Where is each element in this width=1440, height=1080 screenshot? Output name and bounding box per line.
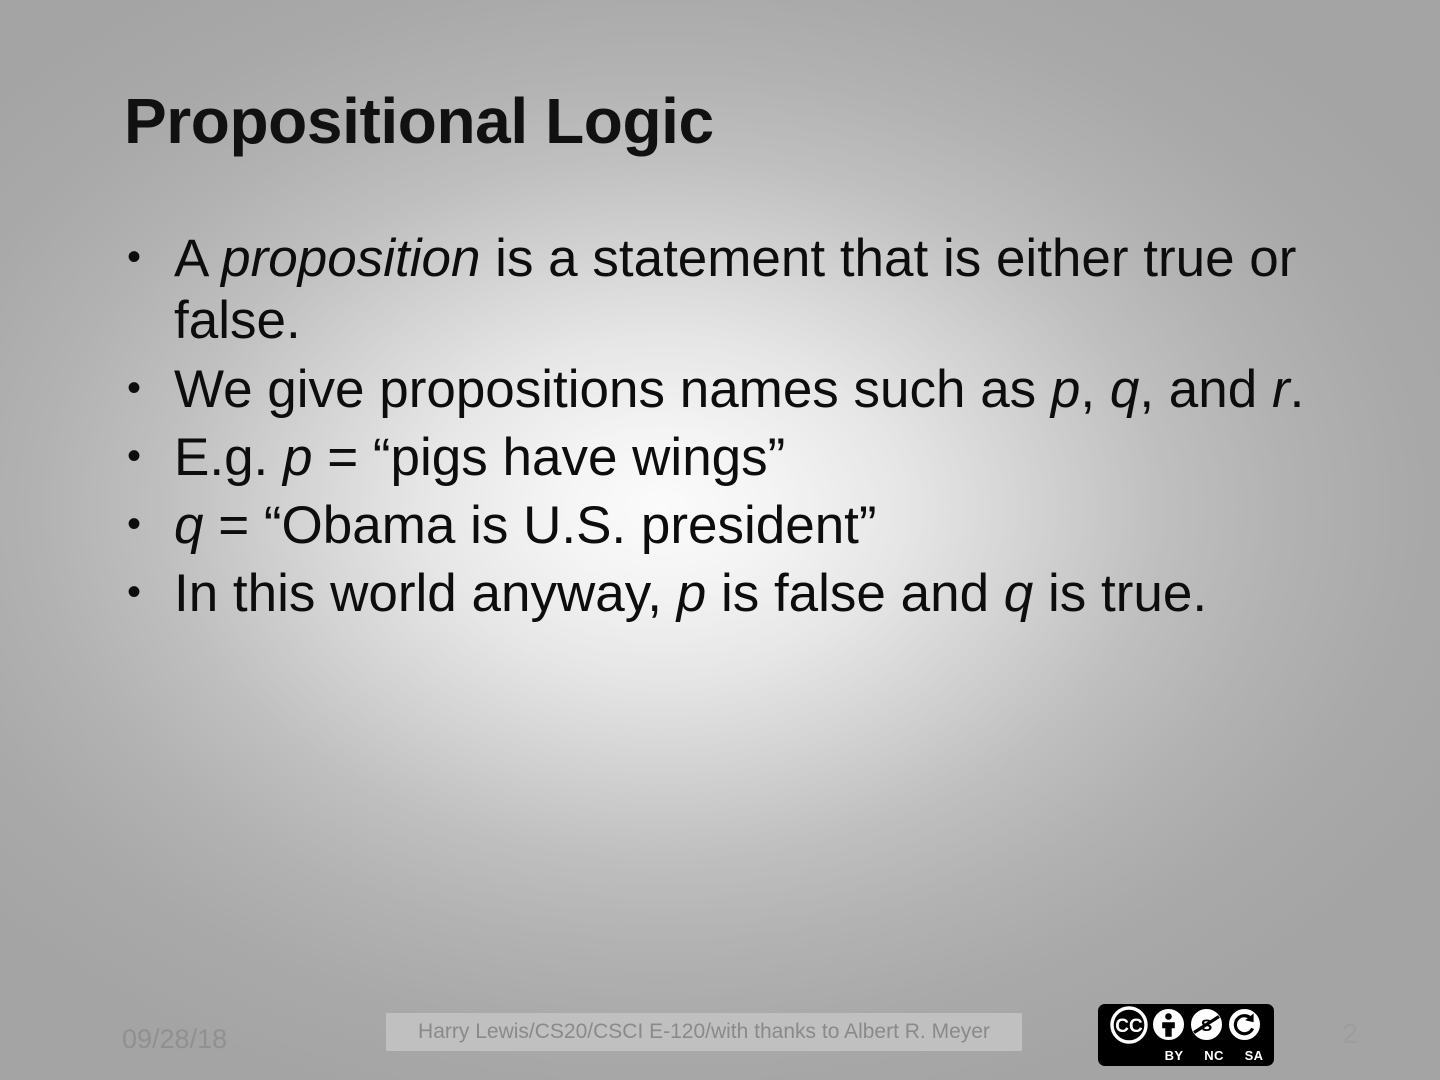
bullet-text-fragment: is false and xyxy=(706,564,1004,623)
bullet-item-example-p: •E.g. p = “pigs have wings” xyxy=(118,427,1333,489)
bullet-text-fragment: proposition xyxy=(221,229,480,288)
bullet-text-fragment: We give propositions names such as xyxy=(174,360,1051,419)
bullet-marker-icon: • xyxy=(118,563,174,621)
bullet-text-fragment: r xyxy=(1272,360,1290,419)
bullet-text-example-p: E.g. p = “pigs have wings” xyxy=(174,427,1333,489)
bullet-text-fragment: = “Obama is U.S. president” xyxy=(203,496,876,555)
bullet-text-fragment: p xyxy=(677,564,706,623)
cc-label-nc: NC xyxy=(1200,1048,1228,1063)
creative-commons-icon: CC xyxy=(1110,1006,1148,1049)
bullet-item-proposition-names: •We give propositions names such as p, q… xyxy=(118,359,1333,421)
bullet-text-fragment: p xyxy=(283,428,312,487)
bullet-text-fragment: is true. xyxy=(1033,564,1207,623)
bullet-item-example-q: •q = “Obama is U.S. president” xyxy=(118,495,1333,557)
cc-label-row: BY NC SA xyxy=(1098,1047,1274,1064)
noncommercial-crossed-dollar-icon: S xyxy=(1189,1007,1224,1047)
bullet-text-fragment: E.g. xyxy=(174,428,283,487)
bullet-text-fragment: , and xyxy=(1139,360,1272,419)
bullet-item-truth-values: •In this world anyway, p is false and q … xyxy=(118,563,1333,625)
bullet-text-fragment: . xyxy=(1290,360,1305,419)
bullet-marker-icon: • xyxy=(118,228,174,286)
bullet-item-proposition-definition: •A proposition is a statement that is ei… xyxy=(118,228,1333,353)
bullet-marker-icon: • xyxy=(118,359,174,417)
slide-title: Propositional Logic xyxy=(124,87,1324,156)
sharealike-circular-arrow-icon xyxy=(1227,1007,1262,1047)
bullet-text-proposition-definition: A proposition is a statement that is eit… xyxy=(174,228,1333,353)
presentation-slide: Propositional Logic •A proposition is a … xyxy=(0,0,1440,1080)
footer-attribution-box: Harry Lewis/CS20/CSCI E-120/with thanks … xyxy=(386,1013,1022,1051)
slide-body-content: •A proposition is a statement that is ei… xyxy=(118,228,1333,632)
bullet-text-fragment: , xyxy=(1080,360,1109,419)
bullet-marker-icon: • xyxy=(118,427,174,485)
bullet-text-example-q: q = “Obama is U.S. president” xyxy=(174,495,1333,557)
bullet-text-fragment: q xyxy=(1004,564,1033,623)
cc-label-by: BY xyxy=(1160,1048,1188,1063)
bullet-text-fragment: A xyxy=(174,229,221,288)
cc-label-sa: SA xyxy=(1240,1048,1268,1063)
bullet-text-proposition-names: We give propositions names such as p, q,… xyxy=(174,359,1333,421)
bullet-text-fragment: = “pigs have wings” xyxy=(313,428,786,487)
slide-number: 2 xyxy=(1330,1018,1370,1050)
bullet-text-fragment: p xyxy=(1051,360,1080,419)
attribution-person-icon xyxy=(1151,1007,1186,1047)
bullet-marker-icon: • xyxy=(118,495,174,553)
bullet-text-truth-values: In this world anyway, p is false and q i… xyxy=(174,563,1333,625)
bullet-text-fragment: q xyxy=(174,496,203,555)
bullet-text-fragment: In this world anyway, xyxy=(174,564,677,623)
svg-text:CC: CC xyxy=(1115,1016,1143,1037)
bullet-text-fragment: q xyxy=(1110,360,1139,419)
cc-icon-row: CC S xyxy=(1098,1007,1274,1047)
cc-by-nc-sa-license-badge[interactable]: CC S xyxy=(1098,1004,1274,1066)
footer-attribution-text: Harry Lewis/CS20/CSCI E-120/with thanks … xyxy=(418,1020,990,1044)
footer-date: 09/28/18 xyxy=(122,1024,227,1055)
